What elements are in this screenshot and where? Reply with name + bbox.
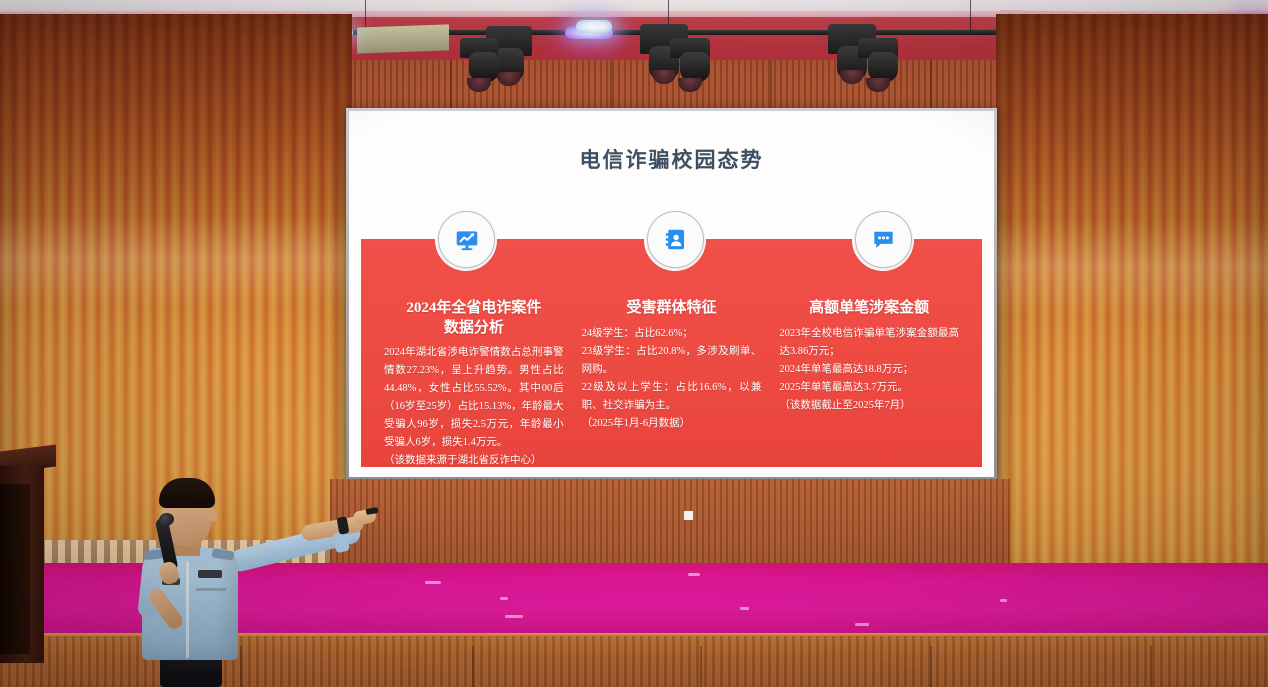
column-body-line: 2023年全校电信诈骗单笔涉案金额最高达3.86万元； [779, 325, 959, 361]
slide-columns: 2024年全省电诈案件 数据分析 2024年湖北省涉电诈警情数占总刑事警情数27… [361, 299, 982, 463]
wall-below-screen [330, 479, 1010, 565]
slide-column-max-amount: 高额单笔涉案金额 2023年全校电信诈骗单笔涉案金额最高达3.86万元； 202… [770, 299, 968, 463]
chart-monitor-icon [454, 227, 480, 253]
presenter-chest-badge [198, 570, 222, 578]
column-body: 24级学生：占比62.6%； 23级学生：占比20.8%，多涉及刷单、网购。 2… [582, 325, 762, 433]
column-body-line: 22级及以上学生：占比16.6%，以兼职、社交诈骗为主。 [582, 379, 762, 415]
slide-column-victim-profile: 受害群体特征 24级学生：占比62.6%； 23级学生：占比20.8%，多涉及刷… [573, 299, 771, 463]
column-body-line: 23级学生：占比20.8%，多涉及刷单、网购。 [582, 343, 762, 379]
presenter-shirt-pocket [196, 588, 226, 591]
column-body-text: 2024年湖北省涉电诈警情数占总刑事警情数27.23%，呈上升趋势。男性占比44… [384, 344, 564, 452]
presentation-slide: 电信诈骗校园态势 2024年全省电诈案件 数据分析 2024年湖北省涉电诈警 [349, 111, 994, 477]
truss-wire [970, 0, 971, 32]
presenter-hair [159, 478, 215, 508]
wall-marker-square [684, 511, 693, 520]
lectern [0, 448, 56, 663]
badge-chat-bubble [855, 211, 912, 268]
column-body-line: 2024年单笔最高达18.8万元； [779, 361, 959, 379]
stage-curtain-right [996, 14, 1268, 589]
projection-screen: 电信诈骗校园态势 2024年全省电诈案件 数据分析 2024年湖北省涉电诈警 [349, 111, 994, 477]
moving-head-stage-light [670, 38, 710, 94]
badge-address-book [647, 211, 704, 268]
slide-column-case-data: 2024年全省电诈案件 数据分析 2024年湖北省涉电诈警情数占总刑事警情数27… [375, 299, 573, 463]
column-body-line: 2025年单笔最高达3.7万元。 [779, 379, 959, 397]
column-body: 2024年湖北省涉电诈警情数占总刑事警情数27.23%，呈上升趋势。男性占比44… [384, 344, 564, 470]
column-heading: 高额单笔涉案金额 [779, 299, 959, 319]
ceiling-downlight [576, 20, 612, 33]
moving-head-stage-light [858, 38, 898, 94]
projection-screen-frame: 电信诈骗校园态势 2024年全省电诈案件 数据分析 2024年湖北省涉电诈警 [346, 108, 997, 480]
auditorium-scene: 电信诈骗校园态势 2024年全省电诈案件 数据分析 2024年湖北省涉电诈警 [0, 0, 1268, 687]
column-heading: 2024年全省电诈案件 数据分析 [384, 299, 564, 338]
column-source-note: （该数据来源于湖北省反诈中心） [384, 452, 564, 470]
moving-head-stage-light [460, 38, 498, 92]
presenter-shirt-placket [186, 562, 189, 658]
column-heading: 受害群体特征 [582, 299, 762, 319]
address-book-icon [663, 227, 688, 252]
badge-chart-monitor [438, 211, 495, 268]
soffit-box [357, 24, 449, 53]
slide-red-panel: 2024年全省电诈案件 数据分析 2024年湖北省涉电诈警情数占总刑事警情数27… [361, 239, 982, 467]
slide-title: 电信诈骗校园态势 [349, 144, 994, 174]
column-source-note: （2025年1月-6月数据） [582, 415, 762, 433]
chat-bubble-icon [871, 227, 896, 252]
presenter-police-officer [126, 470, 376, 687]
column-body: 2023年全校电信诈骗单笔涉案金额最高达3.86万元； 2024年单笔最高达18… [779, 325, 959, 415]
column-source-note: （该数据截止至2025年7月） [779, 397, 959, 415]
presenter-ear [208, 508, 217, 522]
column-body-line: 24级学生：占比62.6%； [582, 325, 762, 343]
